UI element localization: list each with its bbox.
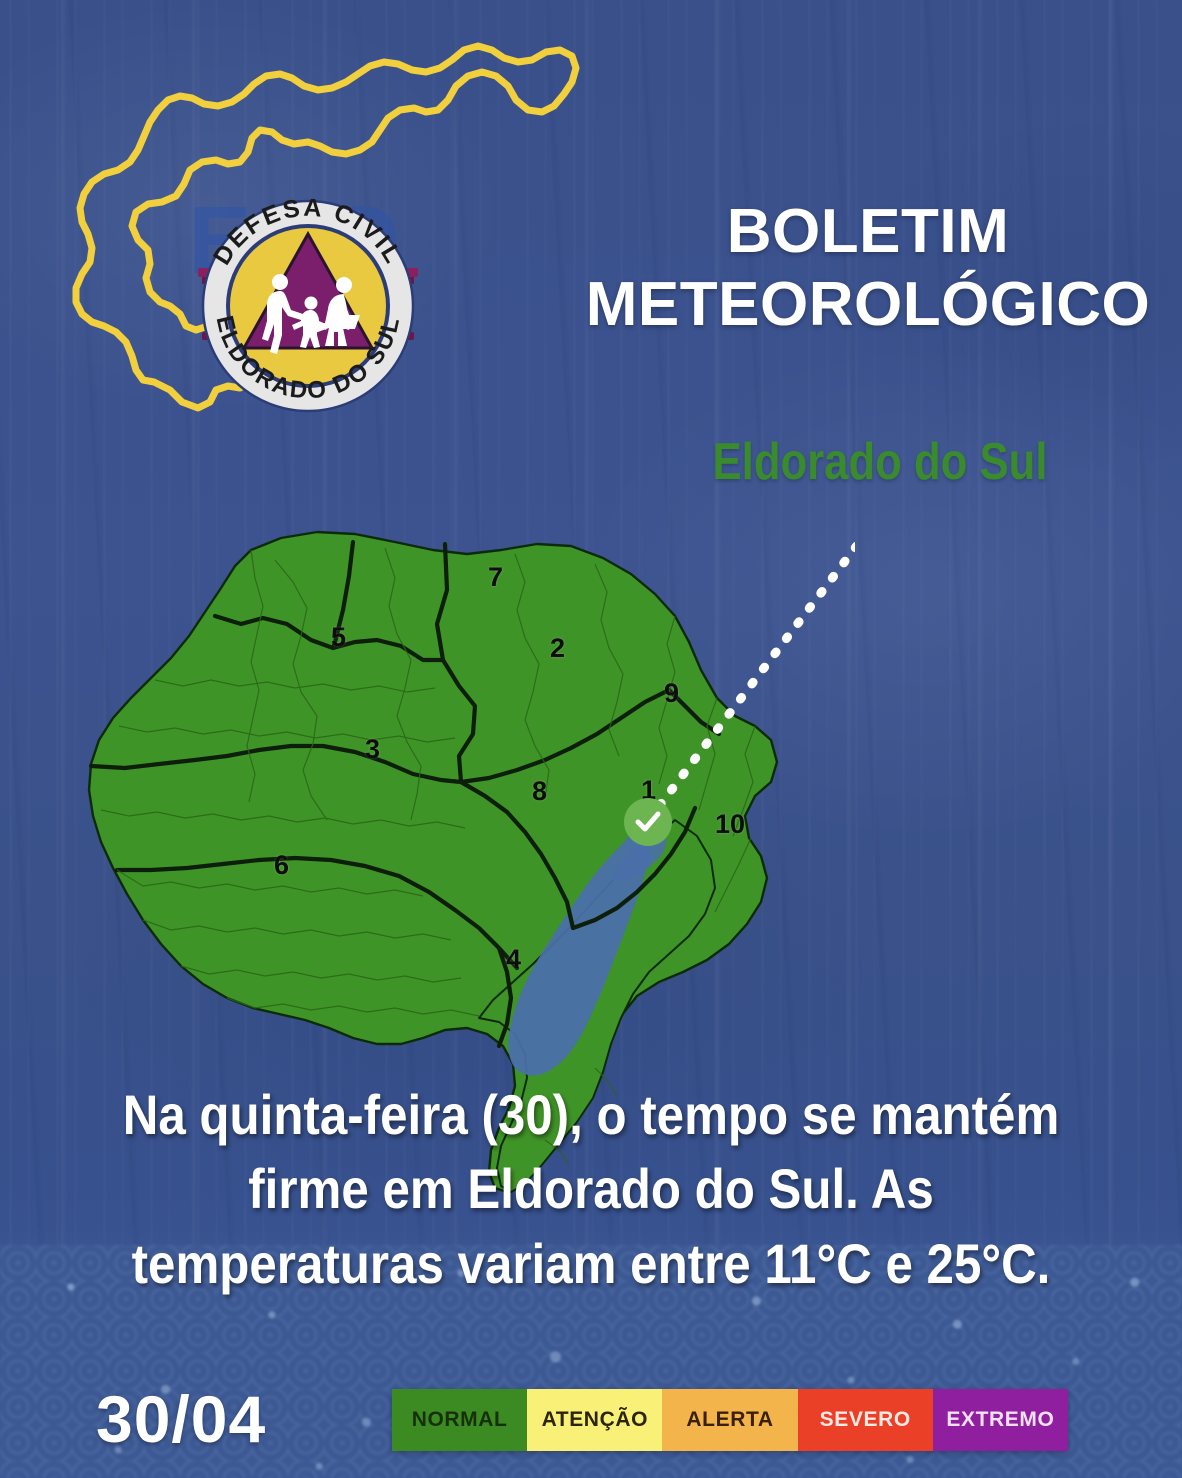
legend-item-atencao[interactable]: ATENÇÃO <box>527 1389 662 1451</box>
map-region-label-5: 5 <box>331 622 346 653</box>
check-icon <box>633 807 663 837</box>
map-region-label-3: 3 <box>365 734 380 765</box>
page-title: BOLETIM METEOROLÓGICO <box>568 196 1168 341</box>
legend-item-extremo[interactable]: EXTREMO <box>933 1389 1068 1451</box>
weather-bulletin-poster: ECO <box>0 0 1182 1478</box>
bulletin-date: 30/04 <box>96 1381 266 1457</box>
map-region-label-9: 9 <box>664 678 679 709</box>
legend-item-alerta[interactable]: ALERTA <box>662 1389 797 1451</box>
city-subtitle: Eldorado do Sul <box>645 432 1115 492</box>
defesa-civil-logo: DEFESA CIVIL ELDORADO DO SUL <box>192 190 424 422</box>
forecast-line-3: temperaturas variam entre 11°C e 25°C. <box>97 1227 1084 1301</box>
title-line-1: BOLETIM <box>568 196 1168 269</box>
legend-item-normal[interactable]: NORMAL <box>392 1389 527 1451</box>
legend-item-severo[interactable]: SEVERO <box>798 1389 933 1451</box>
forecast-text: Na quinta-feira (30), o tempo se mantém … <box>97 1078 1084 1301</box>
forecast-line-1: Na quinta-feira (30), o tempo se mantém <box>97 1078 1084 1152</box>
map-region-label-10: 10 <box>715 809 745 840</box>
forecast-line-2: firme em Eldorado do Sul. As <box>97 1152 1084 1226</box>
map-region-label-8: 8 <box>532 776 547 807</box>
map-region-label-2: 2 <box>550 633 565 664</box>
map-region-label-6: 6 <box>274 850 289 881</box>
map-region-label-4: 4 <box>506 944 521 975</box>
map-region-label-7: 7 <box>488 562 503 593</box>
title-line-2: METEOROLÓGICO <box>568 269 1168 342</box>
eldorado-do-sul-marker[interactable] <box>624 798 672 846</box>
severity-legend: NORMAL ATENÇÃO ALERTA SEVERO EXTREMO <box>392 1389 1068 1451</box>
